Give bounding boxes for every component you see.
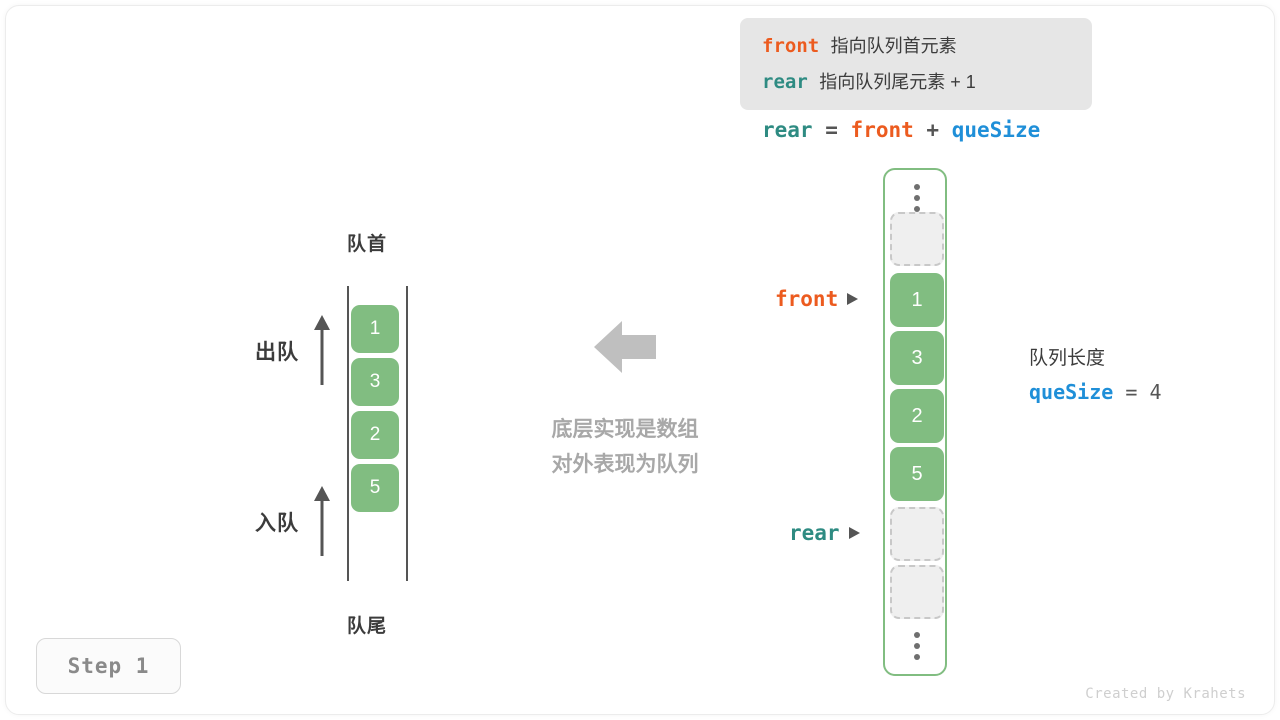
vertical-ellipsis-icon (885, 184, 949, 212)
queue-rail-left (347, 286, 349, 581)
legend-front-keyword: front (762, 35, 819, 57)
legend-line-rear: rear 指向队列尾元素 + 1 (762, 64, 1092, 100)
array-slot-empty (890, 507, 944, 561)
center-caption: 底层实现是数组 对外表现为队列 (525, 412, 725, 482)
queue-cell: 2 (351, 411, 399, 459)
formula-plus: + (926, 118, 939, 142)
array-slot-filled: 1 (890, 273, 944, 327)
array-slot-empty (890, 565, 944, 619)
queue-cell: 5 (351, 464, 399, 512)
array-slot-empty (890, 212, 944, 266)
center-caption-line1: 底层实现是数组 (525, 412, 725, 447)
formula-equals: = (825, 118, 838, 142)
watermark: Created by Krahets (1085, 686, 1246, 702)
array-slot-filled: 5 (890, 447, 944, 501)
queue-head-label: 队首 (347, 229, 387, 256)
queue-cell: 1 (351, 305, 399, 353)
array-slot-filled: 2 (890, 389, 944, 443)
array-container: 1 3 2 5 (883, 168, 947, 676)
legend-rear-text: 指向队列尾元素 + 1 (819, 72, 976, 92)
legend-rear-keyword: rear (762, 71, 808, 93)
front-pointer-label: front (775, 287, 838, 311)
quesize-equals: = (1125, 380, 1137, 404)
queue-size-info: 队列长度 queSize = 4 (1029, 343, 1161, 409)
left-arrow-icon (594, 318, 656, 376)
enqueue-label: 入队 (255, 507, 299, 537)
enqueue-up-arrow-icon (313, 486, 331, 556)
formula-lhs: rear (762, 118, 813, 142)
step-badge: Step 1 (36, 638, 181, 694)
formula-rhs-front: front (851, 118, 914, 142)
dequeue-up-arrow-icon (313, 315, 331, 385)
rear-pointer: rear (789, 521, 860, 545)
formula-rhs-quesize: queSize (952, 118, 1041, 142)
queue-size-title: 队列长度 (1029, 343, 1161, 375)
arrow-right-icon (847, 293, 858, 305)
formula-rear-equals: rear = front + queSize (762, 118, 1040, 142)
dequeue-label: 出队 (255, 336, 299, 366)
legend-front-text: 指向队列首元素 (831, 36, 957, 56)
array-slot-filled: 3 (890, 331, 944, 385)
front-pointer: front (775, 287, 858, 311)
quesize-number: 4 (1149, 380, 1161, 404)
queue-cell: 3 (351, 358, 399, 406)
queue-rail-right (406, 286, 408, 581)
vertical-ellipsis-icon (885, 632, 949, 660)
legend-line-front: front 指向队列首元素 (762, 28, 1092, 64)
queue-tail-label: 队尾 (347, 611, 387, 638)
quesize-var: queSize (1029, 380, 1113, 404)
legend-box: front 指向队列首元素 rear 指向队列尾元素 + 1 (740, 18, 1092, 110)
arrow-right-icon (849, 527, 860, 539)
diagram-canvas: front 指向队列首元素 rear 指向队列尾元素 + 1 rear = fr… (0, 0, 1280, 720)
queue-size-value: queSize = 4 (1029, 375, 1161, 409)
center-caption-line2: 对外表现为队列 (525, 447, 725, 482)
rear-pointer-label: rear (789, 521, 840, 545)
